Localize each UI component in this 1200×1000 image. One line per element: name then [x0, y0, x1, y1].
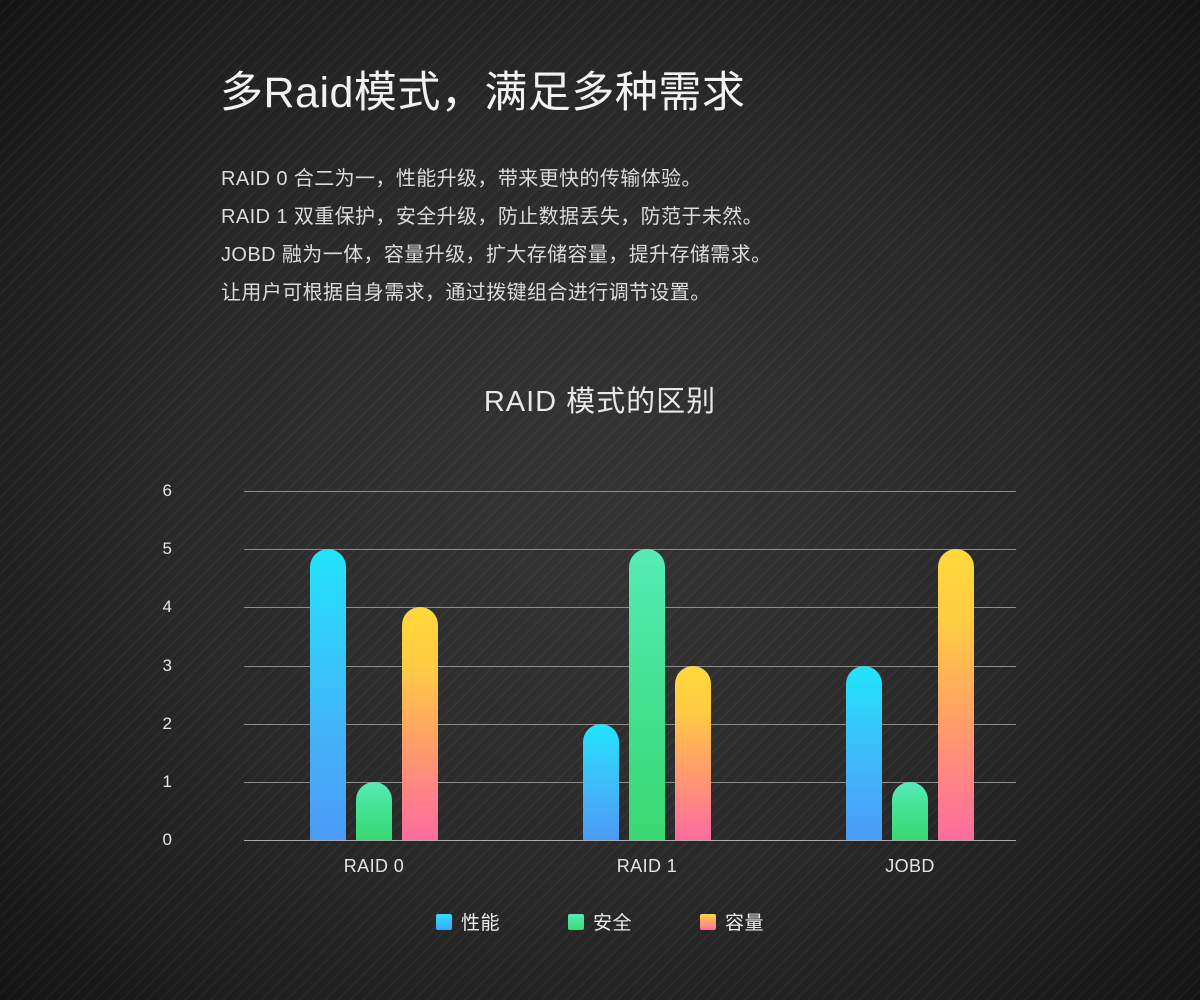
y-axis-tick-label: 5 — [132, 539, 172, 559]
bar-jobd-容量 — [938, 549, 974, 840]
legend-item-容量[interactable]: 容量 — [700, 908, 764, 935]
legend-item-安全[interactable]: 安全 — [568, 908, 632, 935]
bar-raid-1-安全 — [629, 549, 665, 840]
legend-swatch-icon — [436, 914, 452, 930]
x-axis-tick-label: RAID 1 — [547, 856, 747, 877]
y-axis-tick-label: 4 — [132, 597, 172, 617]
raid-comparison-chart: RAID 模式的区别 性能安全容量 6543210RAID 0RAID 1JOB… — [0, 360, 1200, 960]
chart-plot-area — [244, 491, 1016, 840]
bar-raid-0-容量 — [402, 607, 438, 840]
legend-item-性能[interactable]: 性能 — [436, 908, 500, 935]
y-axis-tick-label: 2 — [132, 714, 172, 734]
bar-raid-0-安全 — [356, 782, 392, 840]
description-line-1: RAID 1 双重保护，安全升级，防止数据丢失，防范于未然。 — [221, 198, 772, 236]
chart-gridline — [244, 549, 1016, 550]
bar-raid-0-性能 — [310, 549, 346, 840]
legend-label: 安全 — [593, 908, 632, 935]
legend-swatch-icon — [700, 914, 716, 930]
description-line-0: RAID 0 合二为一，性能升级，带来更快的传输体验。 — [221, 160, 772, 198]
legend-swatch-icon — [568, 914, 584, 930]
bar-jobd-安全 — [892, 782, 928, 840]
chart-legend: 性能安全容量 — [0, 908, 1200, 935]
y-axis-tick-label: 0 — [132, 830, 172, 850]
y-axis-tick-label: 1 — [132, 772, 172, 792]
page-title: 多Raid模式，满足多种需求 — [220, 58, 745, 120]
y-axis-tick-label: 6 — [132, 481, 172, 501]
chart-gridline — [244, 491, 1016, 492]
description-paragraph: RAID 0 合二为一，性能升级，带来更快的传输体验。RAID 1 双重保护，安… — [221, 160, 772, 312]
bar-raid-1-容量 — [675, 666, 711, 841]
chart-title: RAID 模式的区别 — [0, 378, 1200, 420]
legend-label: 性能 — [461, 908, 500, 935]
description-line-2: JOBD 融为一体，容量升级，扩大存储容量，提升存储需求。 — [221, 236, 772, 274]
description-line-3: 让用户可根据自身需求，通过拨键组合进行调节设置。 — [221, 274, 772, 312]
legend-label: 容量 — [725, 908, 764, 935]
x-axis-tick-label: RAID 0 — [274, 856, 474, 877]
x-axis-tick-label: JOBD — [810, 856, 1010, 877]
bar-jobd-性能 — [846, 666, 882, 841]
slide-content: 多Raid模式，满足多种需求 RAID 0 合二为一，性能升级，带来更快的传输体… — [0, 0, 1200, 1000]
chart-x-axis-line — [244, 840, 1016, 841]
slide-canvas: 多Raid模式，满足多种需求 RAID 0 合二为一，性能升级，带来更快的传输体… — [0, 0, 1200, 1000]
y-axis-tick-label: 3 — [132, 656, 172, 676]
bar-raid-1-性能 — [583, 724, 619, 840]
